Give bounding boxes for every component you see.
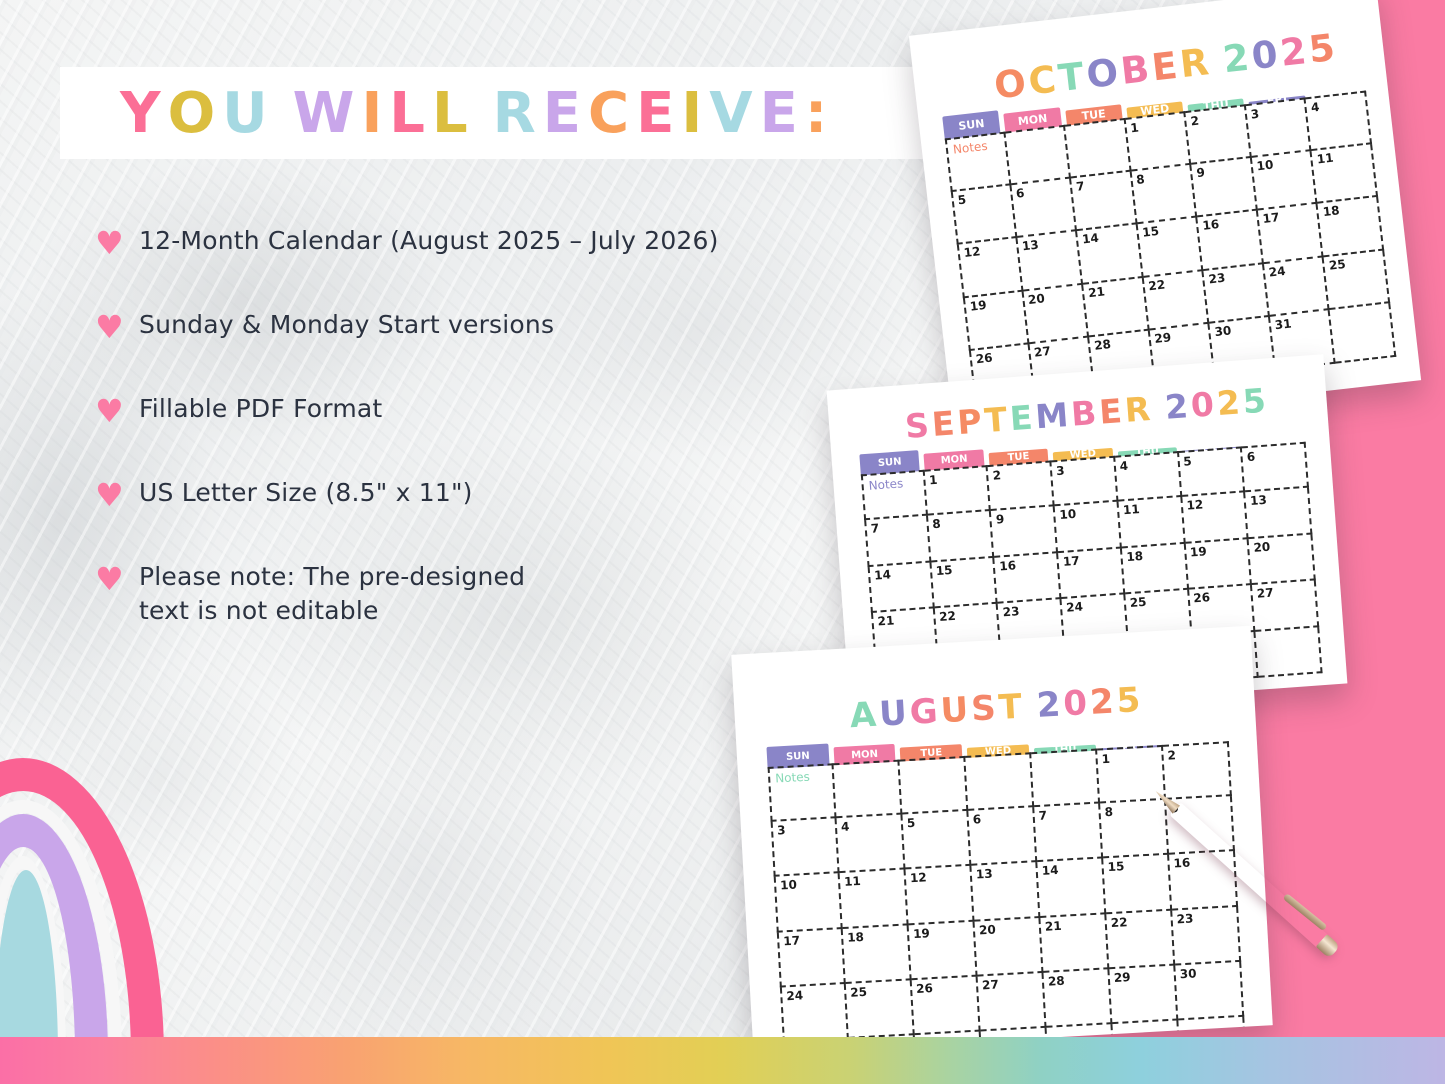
calendar-day-number: 11: [1123, 502, 1141, 517]
calendar-day-cell[interactable]: 7: [864, 516, 931, 567]
title-letter: I: [681, 84, 709, 144]
feature-list-item-label: Fillable PDF Format: [139, 392, 382, 426]
calendar-day-cell[interactable]: 12: [906, 866, 975, 925]
calendar-day-number: 13: [976, 867, 993, 882]
feature-list-item: ♥Sunday & Monday Start versions: [95, 308, 925, 344]
calendar-day-number: 4: [1119, 459, 1128, 474]
calendar-day-number: 6: [1015, 185, 1025, 200]
title-letter: V: [709, 84, 759, 144]
calendar-day-number: 9: [995, 512, 1004, 527]
calendar-day-number: 22: [1110, 915, 1127, 930]
calendar-day-cell[interactable]: 6: [968, 807, 1037, 866]
calendar-day-number: 7: [1075, 179, 1085, 194]
calendar-title-letter: 5: [1241, 380, 1270, 421]
calendar-day-number: 25: [1129, 595, 1147, 610]
calendar-title-letter: O: [1084, 50, 1123, 97]
calendar-day-cell[interactable]: 16: [995, 553, 1062, 604]
calendar-day-cell[interactable]: 28: [1043, 969, 1112, 1028]
calendar-title-letter: U: [940, 690, 973, 732]
heart-icon: ♥: [95, 226, 129, 260]
calendar-day-number: 24: [786, 988, 803, 1003]
calendar-day-number: 1: [1101, 752, 1110, 766]
calendar-day-cell[interactable]: 13: [971, 862, 1040, 921]
calendar-day-number: 17: [1062, 553, 1080, 568]
calendar-day-cell[interactable]: 13: [1245, 488, 1312, 539]
calendar-day-cell[interactable]: 19: [963, 291, 1029, 351]
calendar-title-letter: R: [1123, 389, 1154, 430]
calendar-day-number: 16: [1173, 856, 1190, 871]
calendar-day-number: 26: [975, 351, 993, 367]
feature-list-item-label: Please note: The pre-designed text is no…: [139, 560, 525, 628]
calendar-day-number: 3: [1250, 107, 1260, 122]
calendar-day-cell[interactable]: 6: [1011, 178, 1077, 238]
calendar-title-letter: S: [904, 405, 934, 446]
calendar-day-cell[interactable]: 6: [1242, 442, 1309, 493]
heart-icon: ♥: [95, 478, 129, 512]
calendar-day-number: 2: [1167, 748, 1176, 762]
calendar-notes-label: Notes: [775, 770, 810, 786]
calendar-day-number: 15: [1107, 860, 1124, 875]
calendar-title-letter: G: [909, 691, 942, 733]
calendar-day-number: 25: [1328, 257, 1346, 273]
heart-icon: ♥: [95, 562, 129, 596]
calendar-day-cell[interactable]: 5: [1179, 446, 1246, 497]
calendar-day-number: 23: [1208, 270, 1226, 286]
calendar-day-number: 4: [841, 820, 850, 834]
calendar-day-cell[interactable]: 3: [1051, 456, 1118, 507]
calendar-day-cell[interactable]: 22: [1143, 271, 1209, 331]
calendar-title-letter: A: [849, 695, 881, 737]
calendar-day-cell[interactable]: 20: [974, 918, 1043, 977]
calendar-day-cell[interactable]: 3: [771, 818, 840, 877]
calendar-day-number: 16: [999, 558, 1017, 573]
calendar-day-number: 14: [1081, 231, 1099, 247]
calendar-day-cell[interactable]: 18: [843, 925, 912, 984]
calendar-day-number: 19: [913, 926, 930, 941]
calendar-day-cell[interactable]: 15: [1137, 218, 1203, 278]
calendar-day-cell[interactable]: 8: [1131, 164, 1197, 224]
rainbow-decoration: [0, 758, 212, 1084]
calendar-day-cell[interactable]: Notes: [945, 132, 1011, 192]
calendar-day-cell[interactable]: 14: [1077, 224, 1143, 284]
calendar-day-number: 23: [1002, 604, 1020, 619]
calendar-day-number: 28: [1094, 337, 1112, 353]
feature-list-item: ♥Fillable PDF Format: [95, 392, 925, 428]
calendar-day-number: 19: [1189, 544, 1207, 559]
calendar-day-cell[interactable]: 10: [1252, 151, 1318, 211]
calendar-day-cell[interactable]: 11: [1312, 144, 1378, 204]
calendar-title-letter: 0: [1062, 683, 1091, 724]
calendar-day-number: 6: [1246, 449, 1255, 464]
calendar-day-cell[interactable]: 4: [1115, 451, 1182, 502]
title-letter: E: [543, 84, 588, 144]
title-letter: U: [222, 84, 274, 144]
calendar-day-cell[interactable]: 9: [991, 507, 1058, 558]
calendar-day-number: 9: [1196, 165, 1206, 180]
calendar-day-cell[interactable]: 9: [1192, 157, 1258, 217]
calendar-day-number: 27: [982, 977, 999, 992]
calendar-day-cell[interactable]: [1031, 749, 1100, 808]
calendar-day-cell[interactable]: 10: [774, 873, 843, 932]
calendar-day-cell[interactable]: 16: [1198, 211, 1264, 271]
calendar-day-cell[interactable]: 18: [1318, 197, 1384, 257]
calendar-day-cell[interactable]: 20: [1249, 534, 1316, 585]
calendar-grid-october: Notes12345678910111213141516171819202122…: [945, 90, 1397, 404]
heart-icon: ♥: [95, 394, 129, 428]
calendar-day-number: 29: [1113, 970, 1130, 985]
calendar-day-number: 30: [1179, 966, 1196, 981]
title-letter: C: [588, 84, 636, 144]
calendar-day-number: 4: [1310, 100, 1320, 115]
calendar-day-cell[interactable]: 17: [777, 929, 846, 988]
calendar-title-letter: M: [1034, 395, 1073, 437]
calendar-day-cell[interactable]: 1: [924, 465, 991, 516]
calendar-title-letter: T: [983, 399, 1011, 440]
feature-list-item-label: 12-Month Calendar (August 2025 – July 20…: [139, 224, 719, 258]
calendar-day-number: 2: [1190, 114, 1200, 129]
calendar-day-number: 15: [1142, 224, 1160, 240]
calendar-day-cell[interactable]: [1330, 303, 1396, 363]
title-letter: Y: [120, 84, 168, 144]
calendar-day-number: 8: [932, 517, 941, 532]
calendar-day-cell[interactable]: 2: [1185, 104, 1251, 164]
calendar-day-number: 7: [1038, 809, 1047, 823]
calendar-day-number: 24: [1268, 264, 1286, 280]
calendar-title-letter: 2: [1036, 684, 1065, 725]
calendar-title-letter: U: [878, 693, 911, 735]
calendar-day-cell[interactable]: 14: [868, 562, 935, 613]
calendar-day-cell[interactable]: 5: [951, 185, 1017, 245]
calendar-day-cell[interactable]: 18: [1122, 544, 1189, 595]
feature-list-item-label: Sunday & Monday Start versions: [139, 308, 554, 342]
calendar-title-letter: 2: [1215, 382, 1244, 423]
calendar-day-cell[interactable]: 1: [1125, 111, 1191, 171]
calendar-day-number: 18: [1322, 203, 1340, 219]
title-letter: E: [636, 84, 681, 144]
calendar-grid-august: Notes12345678910111213141516171819202122…: [768, 741, 1245, 1042]
calendar-day-cell[interactable]: [833, 760, 902, 819]
calendar-title-letter: C: [1026, 57, 1061, 103]
calendar-day-number: 7: [870, 522, 879, 537]
rainbow-gradient-bar: [0, 1037, 1445, 1084]
calendar-day-number: 3: [777, 823, 786, 837]
calendar-day-number: 18: [847, 929, 864, 944]
calendar-day-number: 15: [935, 563, 953, 578]
calendar-title-letter: B: [1070, 393, 1101, 434]
title-letter: [475, 84, 493, 144]
calendar-day-cell[interactable]: 20: [1023, 285, 1089, 345]
calendar-day-cell[interactable]: 29: [1109, 965, 1178, 1024]
calendar-day-number: 14: [874, 567, 892, 582]
calendar-day-number: 23: [1176, 911, 1193, 926]
calendar-day-number: 10: [1256, 157, 1274, 173]
calendar-day-cell[interactable]: 5: [902, 811, 971, 870]
calendar-day-number: 21: [877, 614, 895, 629]
calendar-day-cell[interactable]: 13: [1017, 231, 1083, 291]
calendar-title-letter: E: [930, 403, 958, 444]
calendar-day-cell[interactable]: 14: [1037, 859, 1106, 918]
calendar-day-cell[interactable]: 25: [846, 980, 915, 1039]
calendar-day-cell[interactable]: 26: [912, 976, 981, 1035]
calendar-notes-label: Notes: [952, 139, 988, 157]
calendar-title-letter: E: [1009, 398, 1037, 439]
calendar-day-cell[interactable]: 23: [1204, 264, 1270, 324]
calendar-day-number: 8: [1136, 172, 1146, 187]
calendar-day-cell[interactable]: 25: [1324, 250, 1390, 310]
title-letter: I: [361, 84, 389, 144]
calendar-day-cell[interactable]: [965, 752, 1034, 811]
calendar-day-cell[interactable]: Notes: [861, 470, 928, 521]
calendar-day-number: 26: [1193, 590, 1211, 605]
calendar-day-cell[interactable]: 2: [988, 460, 1055, 511]
calendar-day-number: 1: [929, 473, 938, 488]
calendar-day-cell[interactable]: [899, 756, 968, 815]
calendar-day-cell[interactable]: 21: [1083, 278, 1149, 338]
calendar-day-number: 3: [1056, 463, 1065, 478]
title-letter: :: [805, 84, 834, 144]
calendar-day-cell[interactable]: 12: [1182, 493, 1249, 544]
calendar-day-number: 12: [1186, 498, 1204, 513]
calendar-day-number: 27: [1256, 586, 1274, 601]
calendar-day-number: 2: [992, 468, 1001, 483]
calendar-day-number: 20: [1027, 291, 1045, 307]
calendar-day-number: 21: [1087, 284, 1105, 300]
feature-list-item: ♥Please note: The pre-designed text is n…: [95, 560, 925, 628]
calendar-day-cell[interactable]: 4: [1306, 90, 1372, 150]
calendar-day-cell[interactable]: 7: [1071, 171, 1137, 231]
title-letter: L: [389, 84, 432, 144]
calendar-day-number: 13: [1021, 238, 1039, 254]
calendar-day-cell[interactable]: 17: [1058, 548, 1125, 599]
calendar-day-number: 21: [1044, 918, 1061, 933]
calendar-day-cell[interactable]: 1: [1097, 745, 1166, 804]
calendar-title-letter: B: [1119, 47, 1155, 93]
calendar-title-letter: R: [1178, 40, 1214, 86]
calendar-day-number: 26: [916, 981, 933, 996]
calendar-title-letter: P: [956, 401, 986, 442]
title-letter: O: [168, 84, 223, 144]
calendar-day-cell[interactable]: 8: [1100, 800, 1169, 859]
calendar-day-cell[interactable]: 11: [840, 870, 909, 929]
calendar-day-cell[interactable]: 4: [837, 815, 906, 874]
calendar-day-cell[interactable]: 19: [1185, 539, 1252, 590]
calendar-day-number: 1: [1130, 120, 1140, 135]
calendar-title-letter: 2: [1089, 681, 1118, 722]
calendar-day-number: 31: [1274, 317, 1292, 333]
calendar-day-cell[interactable]: 27: [1252, 581, 1319, 632]
calendar-day-number: 25: [850, 985, 867, 1000]
feature-list-item: ♥US Letter Size (8.5" x 11"): [95, 476, 925, 512]
calendar-day-cell[interactable]: 17: [1258, 204, 1324, 264]
calendar-day-cell[interactable]: 27: [978, 973, 1047, 1032]
calendar-day-number: 10: [780, 878, 797, 893]
calendar-day-number: 10: [1059, 507, 1077, 522]
calendar-day-number: 11: [844, 874, 861, 889]
calendar-day-number: 17: [783, 933, 800, 948]
calendar-day-number: 11: [1316, 150, 1334, 166]
calendar-day-number: 27: [1033, 344, 1051, 360]
calendar-day-number: 17: [1262, 210, 1280, 226]
calendar-day-number: 16: [1202, 217, 1220, 233]
calendar-title-letter: T: [998, 687, 1026, 728]
calendar-day-cell[interactable]: 3: [1246, 97, 1312, 157]
calendar-sheet-august: AUGUST 2025SUNMONTUEWEDTHUFRISATNotes123…: [731, 626, 1273, 1054]
calendar-day-cell[interactable]: 15: [1103, 855, 1172, 914]
calendar-day-cell[interactable]: 19: [909, 921, 978, 980]
calendar-day-number: 5: [907, 816, 916, 830]
calendar-day-number: 5: [1183, 454, 1192, 469]
calendar-day-number: 5: [957, 192, 967, 207]
heart-icon: ♥: [95, 310, 129, 344]
calendar-day-cell[interactable]: 10: [1055, 502, 1122, 553]
calendar-title-letter: 2: [1164, 386, 1193, 427]
calendar-day-number: 19: [969, 298, 987, 314]
calendar-day-number: 6: [972, 812, 981, 826]
calendar-title-letter: 0: [1190, 384, 1219, 425]
calendar-day-number: 29: [1154, 331, 1172, 347]
calendar-day-number: 22: [1148, 277, 1166, 293]
title-letter: R: [493, 84, 543, 144]
calendar-title-letter: 5: [1116, 680, 1145, 721]
calendar-day-cell[interactable]: 30: [1175, 962, 1244, 1021]
calendar-day-number: 20: [979, 922, 996, 937]
calendar-day-cell[interactable]: 22: [1106, 910, 1175, 969]
calendar-title-letter: O: [992, 61, 1031, 108]
calendar-sheet-inner: AUGUST 2025SUNMONTUEWEDTHUFRISATNotes123…: [731, 626, 1273, 1054]
calendar-day-cell[interactable]: 12: [957, 238, 1023, 298]
calendar-day-number: 30: [1214, 324, 1232, 340]
calendar-notes-label: Notes: [868, 476, 904, 493]
calendar-day-number: 12: [910, 871, 927, 886]
calendar-day-cell[interactable]: 23: [1172, 906, 1241, 965]
calendar-day-number: 18: [1126, 549, 1144, 564]
page-title: YOU WILL RECEIVE:: [120, 84, 834, 144]
calendar-day-cell[interactable]: 15: [931, 558, 998, 609]
title-letter: W: [293, 84, 362, 144]
listing-graphic: YOU WILL RECEIVE: ♥12-Month Calendar (Au…: [0, 0, 1445, 1084]
calendar-day-number: 20: [1253, 539, 1271, 554]
calendar-day-cell[interactable]: 2: [1163, 741, 1232, 800]
title-letter: E: [760, 84, 805, 144]
calendar-day-number: 13: [1250, 493, 1268, 508]
calendar-title-letter: 5: [1307, 26, 1340, 72]
calendar-day-cell[interactable]: 11: [1118, 497, 1185, 548]
calendar-title-letter: S: [970, 688, 1000, 729]
title-letter: [275, 84, 293, 144]
feature-list: ♥12-Month Calendar (August 2025 – July 2…: [95, 224, 925, 674]
calendar-day-number: 24: [1066, 600, 1084, 615]
calendar-day-cell[interactable]: [1005, 125, 1071, 185]
calendar-day-cell[interactable]: [1065, 118, 1131, 178]
calendar-day-cell[interactable]: Notes: [768, 763, 837, 822]
calendar-day-cell[interactable]: 8: [928, 511, 995, 562]
feature-list-item-label: US Letter Size (8.5" x 11"): [139, 476, 473, 510]
title-letter: L: [432, 84, 475, 144]
calendar-title-letter: E: [1098, 391, 1126, 432]
feature-list-item: ♥12-Month Calendar (August 2025 – July 2…: [95, 224, 925, 260]
calendar-day-number: 22: [939, 609, 957, 624]
calendar-day-cell[interactable]: 7: [1034, 804, 1103, 863]
calendar-day-number: 12: [963, 244, 981, 260]
calendar-day-number: 28: [1048, 973, 1065, 988]
calendar-day-cell[interactable]: 24: [780, 984, 849, 1043]
calendar-day-cell[interactable]: 24: [1264, 257, 1330, 317]
calendar-day-cell[interactable]: [1256, 627, 1323, 678]
calendar-day-number: 8: [1104, 805, 1113, 819]
calendar-day-number: 14: [1041, 863, 1058, 878]
calendar-day-cell[interactable]: 21: [1040, 914, 1109, 973]
